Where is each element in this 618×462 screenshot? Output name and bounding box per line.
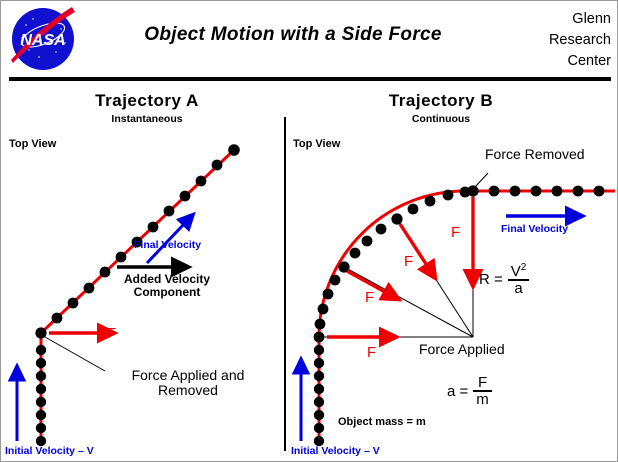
panel-b-title: Trajectory B (331, 91, 551, 111)
object-mass-label: Object mass = m (338, 416, 426, 428)
panel-a-view-label: Top View (9, 138, 56, 150)
added-velocity-line-2: Component (108, 286, 226, 299)
force-label-b-2: F (365, 289, 374, 306)
radius-formula-lhs: R = (479, 271, 503, 288)
accel-formula-numerator: F (475, 375, 490, 390)
force-applied-label-b: Force Applied (419, 341, 505, 357)
accel-formula-fraction: F m (473, 375, 492, 408)
panel-a-title: Trajectory A (47, 91, 247, 111)
final-velocity-label-b: Final Velocity (501, 223, 568, 235)
initial-velocity-label-a: Initial Velocity – V (5, 445, 94, 457)
panel-b-subtitle: Continuous (331, 113, 551, 125)
force-removed-leader-b (475, 173, 488, 187)
diagram-page: NASA Object Motion with a Side Force Gle… (0, 0, 618, 462)
force-label-b-1: F (367, 344, 376, 361)
initial-velocity-label-b: Initial Velocity – V (291, 445, 380, 457)
force-label-b-3: F (404, 253, 413, 270)
accel-formula-lhs: a = (447, 383, 468, 400)
acceleration-formula: a = F m (447, 375, 492, 408)
force-applied-line-2: Removed (105, 383, 271, 398)
force-removed-label-b: Force Removed (485, 146, 585, 162)
radius-formula-exponent: 2 (521, 262, 527, 273)
panel-a-subtitle: Instantaneous (47, 113, 247, 125)
panel-b-view-label: Top View (293, 138, 340, 150)
accel-formula-denominator: m (473, 390, 492, 407)
radius-formula-numerator: V2 (508, 263, 530, 279)
added-velocity-label-a: Added Velocity Component (108, 273, 226, 299)
radius-formula-denominator: a (508, 279, 530, 296)
header-rule (9, 77, 611, 81)
force-applied-leader-a (45, 337, 105, 371)
force-label-b-4: F (451, 224, 460, 241)
panel-divider (284, 117, 286, 451)
force-applied-label-a: Force Applied and Removed (105, 368, 271, 399)
radius-formula-fraction: V2 a (508, 263, 530, 297)
force-label-a: F (107, 325, 116, 342)
radius-formula: R = V2 a (479, 263, 529, 297)
force-applied-line-1: Force Applied and (105, 368, 271, 383)
final-velocity-label-a: Final Velocity (134, 239, 201, 251)
